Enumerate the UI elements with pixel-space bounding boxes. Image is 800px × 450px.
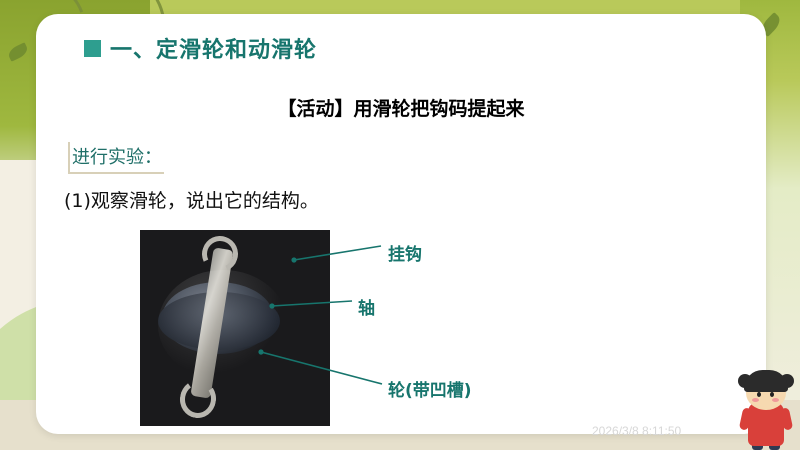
content-card: 一、定滑轮和动滑轮 【活动】用滑轮把钩码提起来 进行实验： (1)观察滑轮，说出… xyxy=(36,14,766,434)
mascot-cheek-right xyxy=(772,398,779,402)
mascot-character xyxy=(738,364,794,450)
mascot-cheek-left xyxy=(752,398,759,402)
timestamp: 2026/3/8 8:11:50 xyxy=(592,424,681,438)
mascot-eye-left xyxy=(757,392,761,397)
activity-title: 【活动】用滑轮把钩码提起来 xyxy=(36,94,766,121)
slide: 一、定滑轮和动滑轮 【活动】用滑轮把钩码提起来 进行实验： (1)观察滑轮，说出… xyxy=(0,0,800,450)
section-heading: 一、定滑轮和动滑轮 xyxy=(84,32,317,64)
photo-highlight xyxy=(158,270,288,380)
question-line: (1)观察滑轮，说出它的结构。 xyxy=(64,186,319,213)
pulley-bottom-hook-shape xyxy=(177,377,219,421)
step-label: 进行实验： xyxy=(68,142,164,174)
section-heading-text: 一、定滑轮和动滑轮 xyxy=(110,32,317,64)
pulley-photo xyxy=(140,230,330,426)
mascot-eye-right xyxy=(770,392,774,397)
callout-label-axis: 轴 xyxy=(358,294,375,319)
callout-label-hook: 挂钩 xyxy=(388,240,422,265)
callout-label-wheel: 轮(带凹槽) xyxy=(388,376,472,401)
mascot-hair xyxy=(744,370,788,392)
square-bullet-icon xyxy=(84,40,101,57)
